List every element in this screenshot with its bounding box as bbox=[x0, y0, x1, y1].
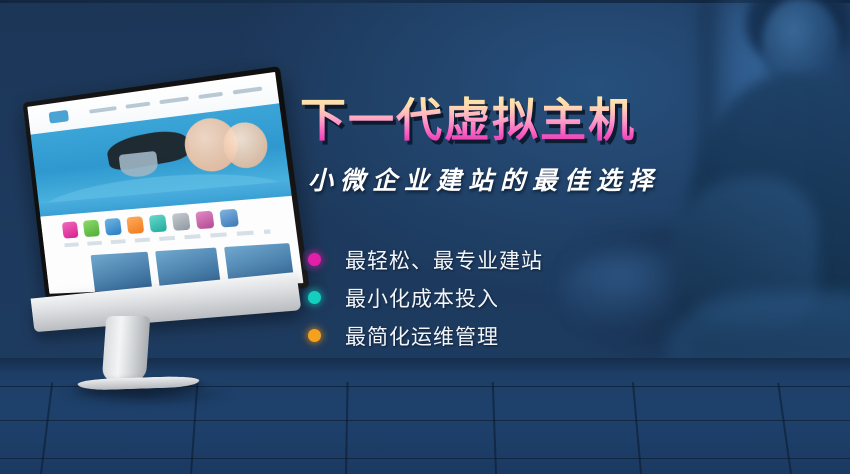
site-icon bbox=[149, 214, 167, 232]
monitor-bezel bbox=[23, 66, 310, 299]
bullet-dot-teal-icon bbox=[303, 287, 325, 309]
site-logo-icon bbox=[49, 110, 69, 124]
bullet-dot-orange-icon bbox=[303, 325, 325, 347]
feature-label: 最简化运维管理 bbox=[345, 321, 499, 351]
bullet-dot-magenta-icon bbox=[303, 249, 325, 271]
floor-line-vertical bbox=[345, 382, 349, 474]
banner-title: 下一代虚拟主机 bbox=[300, 96, 730, 145]
site-icon bbox=[195, 211, 214, 230]
floor-line-vertical bbox=[777, 383, 792, 474]
feature-item: 最简化运维管理 bbox=[303, 317, 730, 355]
site-icon bbox=[62, 221, 79, 238]
feature-item: 最轻松、最专业建站 bbox=[303, 241, 730, 279]
banner-copy-block: 下一代虚拟主机 小微企业建站的最佳选择 最轻松、最专业建站 最小化成本投入 最简… bbox=[300, 96, 730, 355]
site-icon bbox=[219, 209, 239, 228]
site-icon bbox=[172, 213, 191, 231]
floor-line-vertical bbox=[632, 382, 642, 474]
site-icon bbox=[126, 216, 144, 234]
promotional-banner: 下一代虚拟主机 小微企业建站的最佳选择 最轻松、最专业建站 最小化成本投入 最简… bbox=[0, 0, 850, 474]
monitor-stand-neck bbox=[102, 316, 151, 382]
feature-item: 最小化成本投入 bbox=[303, 279, 730, 317]
banner-subtitle: 小微企业建站的最佳选择 bbox=[308, 161, 730, 197]
feature-list: 最轻松、最专业建站 最小化成本投入 最简化运维管理 bbox=[303, 241, 730, 355]
imac-monitor-illustration bbox=[8, 78, 308, 398]
feature-label: 最小化成本投入 bbox=[345, 283, 499, 313]
monitor-screen bbox=[27, 72, 303, 294]
website-preview bbox=[27, 72, 303, 294]
floor-line-vertical bbox=[492, 382, 497, 474]
site-icon bbox=[104, 218, 122, 236]
floor-line-horizontal bbox=[0, 458, 850, 459]
feature-label: 最轻松、最专业建站 bbox=[345, 245, 543, 275]
site-icon bbox=[83, 220, 100, 237]
floor-line-horizontal bbox=[0, 420, 850, 421]
